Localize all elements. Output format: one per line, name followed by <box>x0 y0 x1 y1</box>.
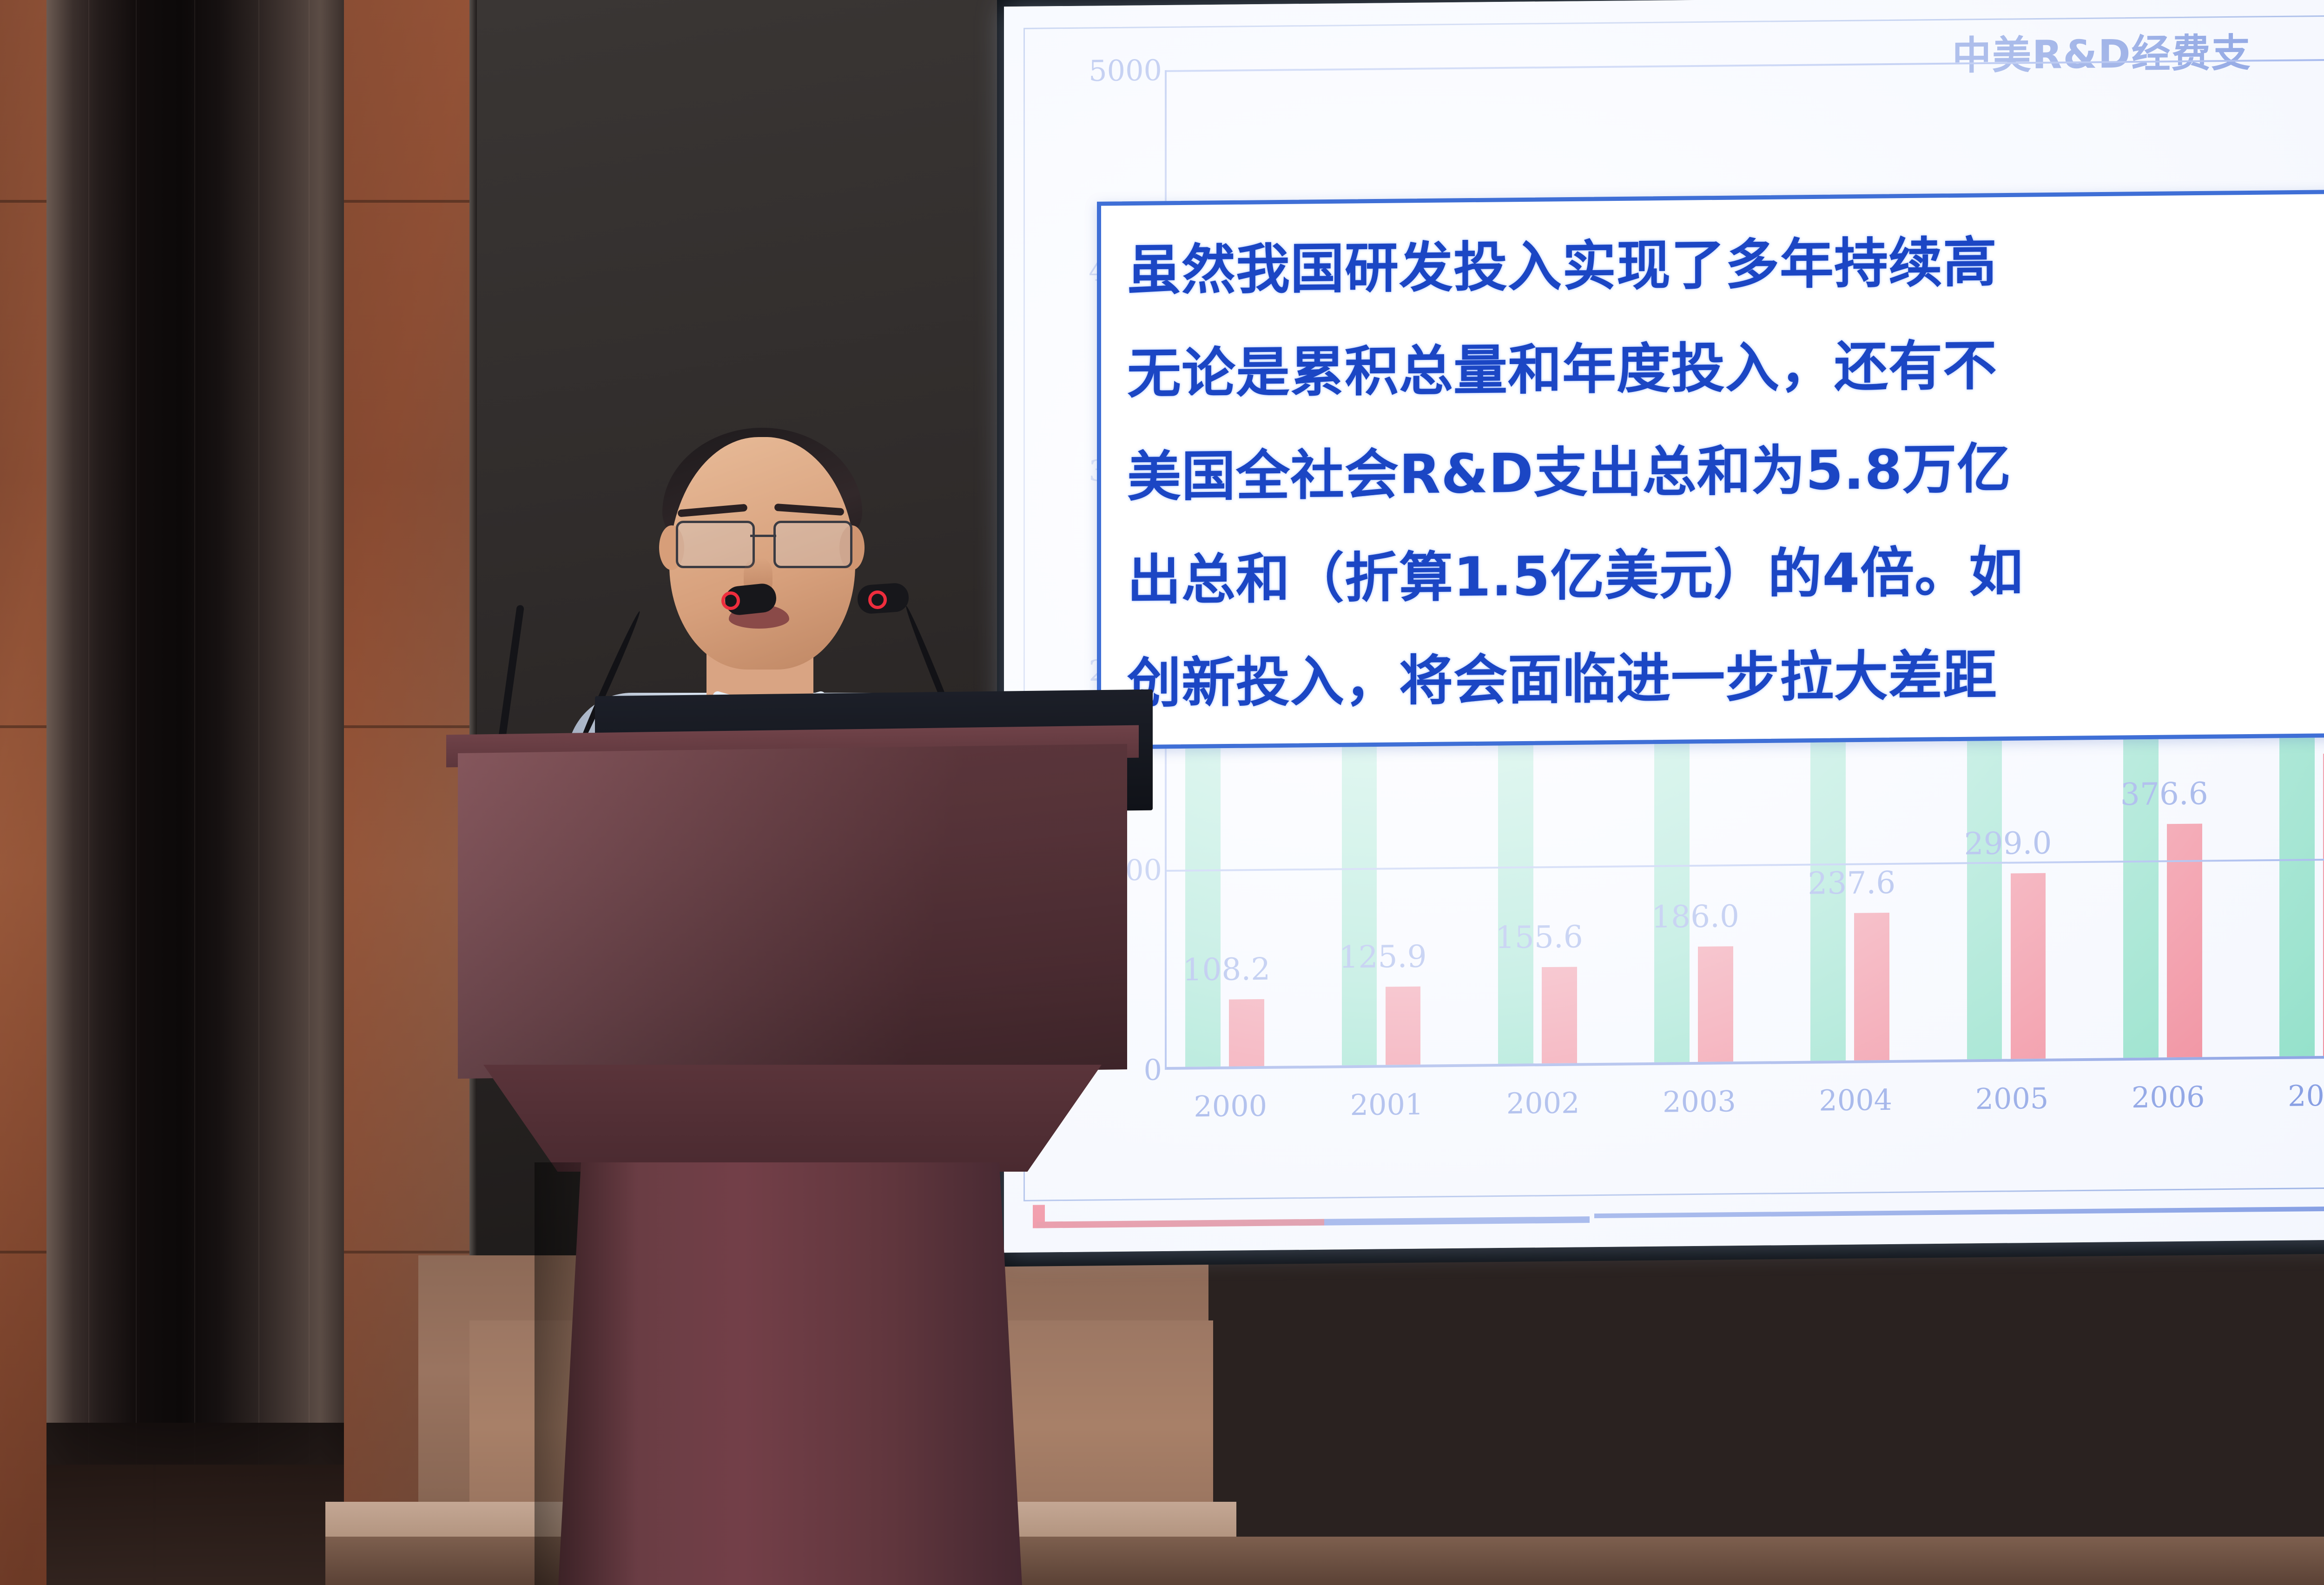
curtain-fold-1 <box>88 0 89 1465</box>
x-tick-label: 2006 <box>2132 1080 2205 1114</box>
y-tick-label: 5000 <box>1089 53 1162 88</box>
x-tick-label: 2000 <box>1194 1089 1267 1124</box>
bar-data-label: 376.6 <box>2120 776 2208 812</box>
slide-text-overlay: 虽然我国研发投入实现了多年持续高无论是累积总量和年度投入，还有不美国全社会R&D… <box>1097 189 2324 749</box>
footer-progress-bar <box>1037 1216 1590 1228</box>
bar-data-label: 125.9 <box>1339 939 1427 975</box>
bar-data-label: 155.6 <box>1495 919 1583 955</box>
curtain-fold-2 <box>136 0 137 1465</box>
podium-bevel <box>483 1065 1102 1172</box>
bar-data-label: 237.6 <box>1808 865 1895 902</box>
x-tick-label: 2001 <box>1350 1088 1424 1122</box>
lens-left <box>676 521 755 568</box>
bar-data-label: 299.0 <box>1964 825 2052 862</box>
x-tick-label: 2005 <box>1975 1081 2049 1116</box>
curtain-hem <box>46 1423 344 1585</box>
bar-cn <box>1854 913 1889 1060</box>
bar-cn <box>2011 873 2046 1059</box>
overlay-line-2: 无论是累积总量和年度投入，还有不 <box>1127 322 1997 408</box>
x-tick-label: 2002 <box>1506 1086 1580 1121</box>
mic-ring-right <box>868 590 887 609</box>
panel-edge <box>469 0 477 1283</box>
overlay-line-3: 美国全社会R&D支出总和为5.8万亿 <box>1127 425 2011 511</box>
bar-cn <box>1542 967 1577 1063</box>
x-tick-label: 2007 <box>2288 1078 2324 1113</box>
mic-ring-left <box>721 591 740 610</box>
x-tick-label: 2004 <box>1819 1083 1892 1118</box>
bar-cn <box>1698 946 1733 1062</box>
podium-front-shading <box>458 744 1127 1079</box>
y-tick-label: 0 <box>1144 1053 1162 1087</box>
bar-cn <box>2167 824 2202 1058</box>
x-tick-label: 2003 <box>1663 1084 1736 1119</box>
bar-cn <box>1386 987 1421 1065</box>
lens-right <box>773 521 852 568</box>
bar-data-label: 108.2 <box>1182 951 1270 988</box>
overlay-line-1: 虽然我国研发投入实现了多年持续高 <box>1127 219 1997 305</box>
curtain-fold-4 <box>258 0 259 1465</box>
bar-data-label: 186.0 <box>1651 898 1739 935</box>
podium-shadow <box>535 1162 637 1585</box>
x-axis: 20002001200220032004200520062007 <box>1165 1074 2324 1137</box>
presentation-photo-scene: 中美R&D经费支 500040003000200010000 108.2125.… <box>0 0 2324 1585</box>
overlay-line-4: 出总和（折算1.5亿美元）的4倍。如 <box>1127 528 2023 615</box>
bar-cn <box>1229 999 1264 1067</box>
stage-curtain <box>46 0 344 1465</box>
footer-rule <box>1594 1206 2324 1218</box>
overlay-line-5: 创新投入，将会面临进一步拉大差距 <box>1127 631 1997 718</box>
glasses-bridge <box>750 535 776 537</box>
curtain-fold-5 <box>309 0 310 1465</box>
curtain-fold-3 <box>194 0 195 1465</box>
